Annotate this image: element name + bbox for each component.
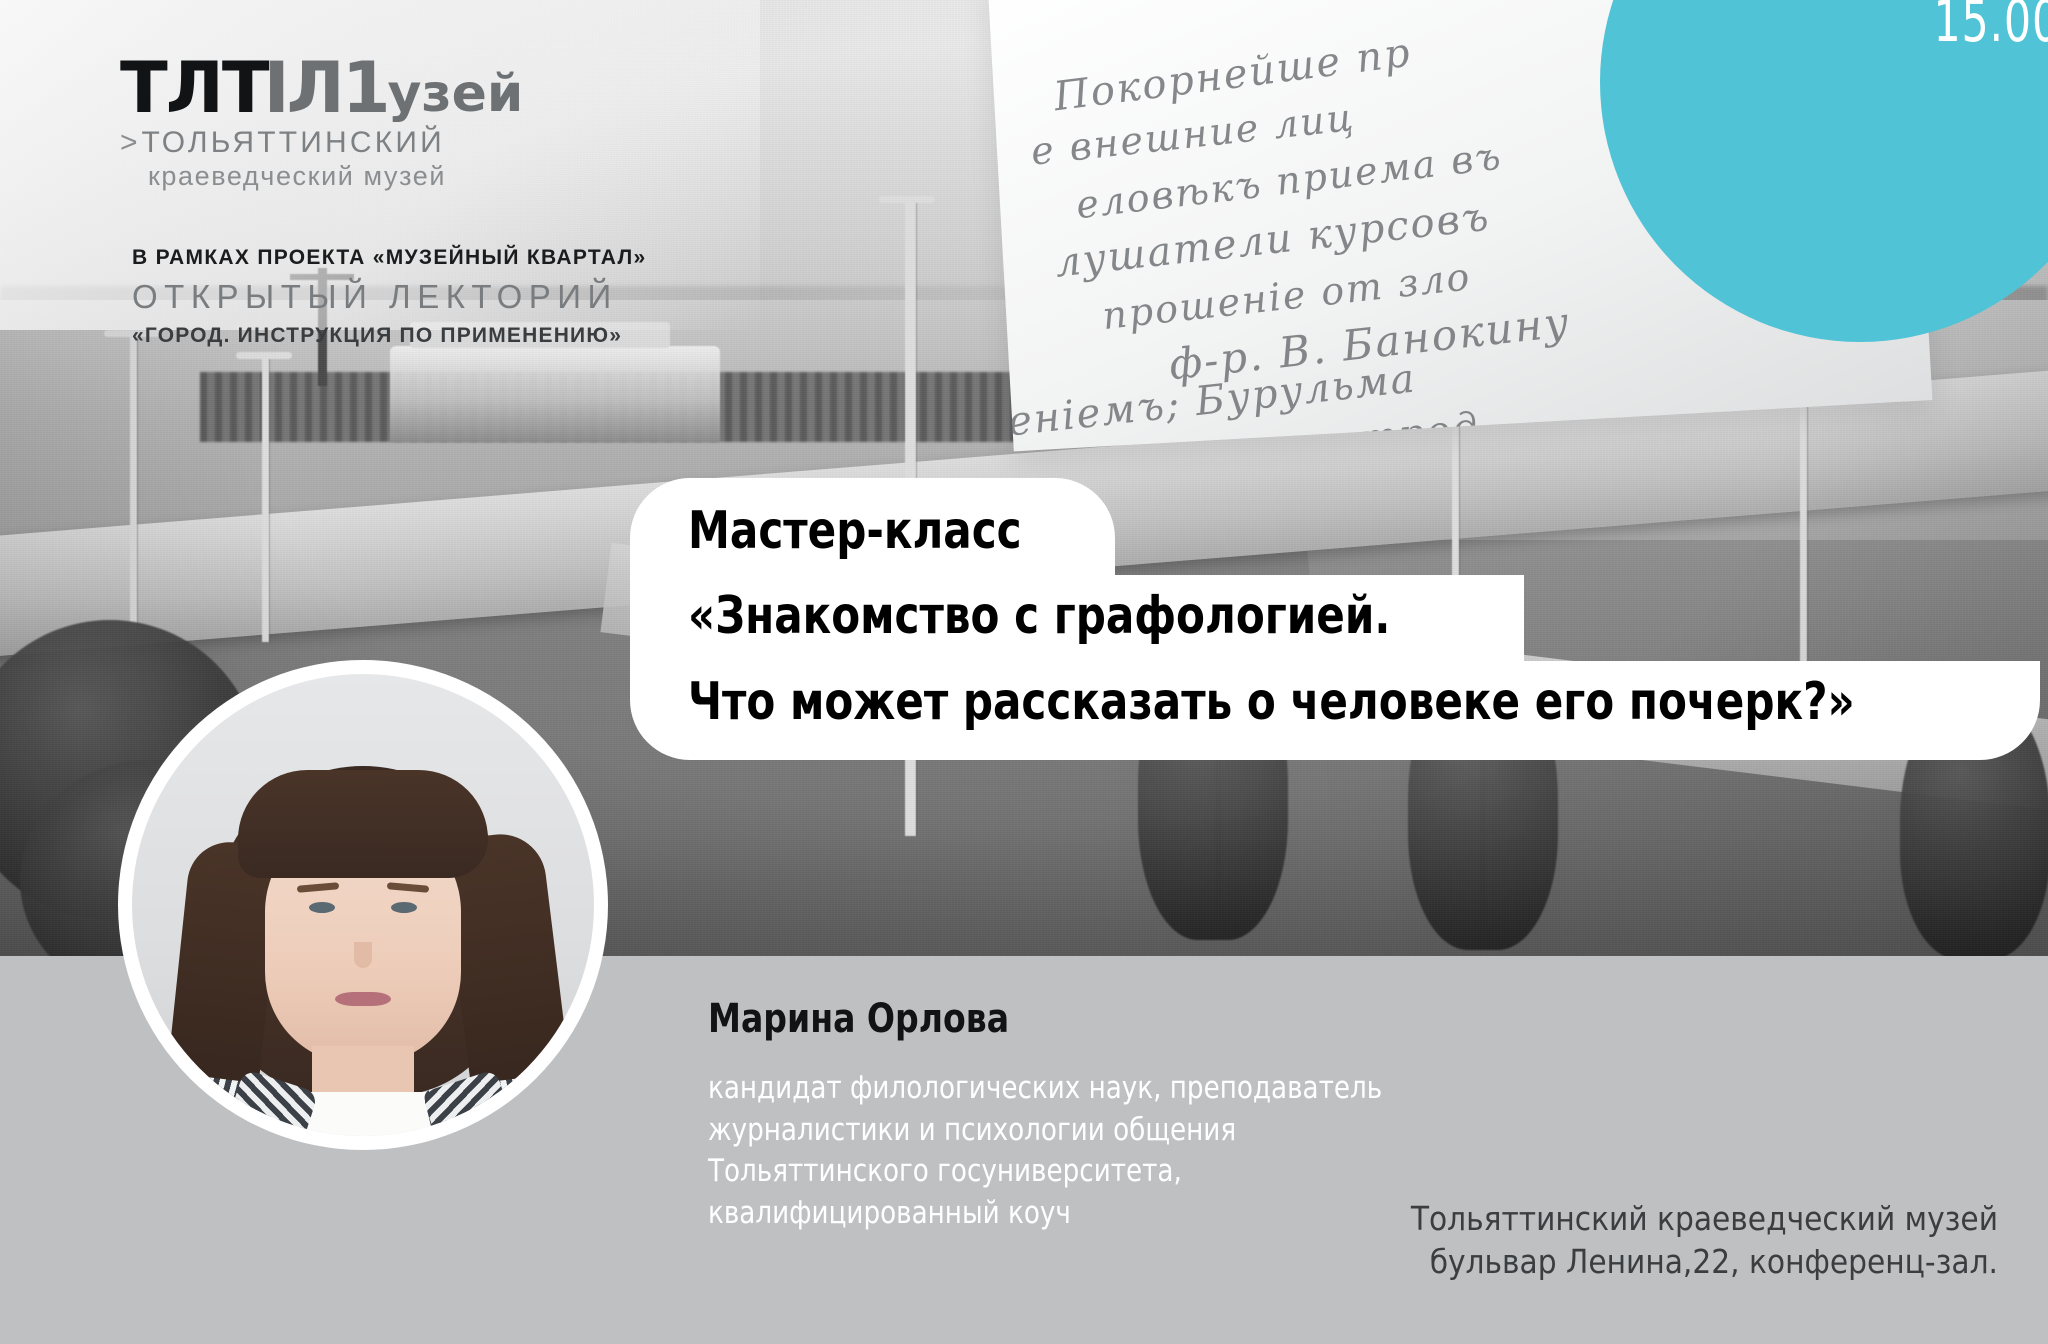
speaker-photo bbox=[132, 674, 594, 1136]
portrait-nose bbox=[354, 942, 372, 968]
logo-subtitle-text: краеведческий музей bbox=[148, 161, 740, 192]
title-bubble-line-1: Мастер-класс bbox=[630, 478, 1115, 575]
project-heading: В РАМКАХ ПРОЕКТА «МУЗЕЙНЫЙ КВАРТАЛ» ОТКР… bbox=[132, 246, 772, 348]
museum-logo: ТЛТ ІЛ1 узей > ТОЛЬЯТТИНСКИЙ краеведческ… bbox=[120, 58, 740, 192]
project-line-lectorium: ОТКРЫТЫЙ ЛЕКТОРИЙ bbox=[132, 278, 772, 316]
title-text-line-2: «Знакомство с графологией. bbox=[688, 585, 1390, 648]
portrait-mouth bbox=[335, 992, 391, 1006]
portrait-eye-left bbox=[309, 902, 335, 913]
date-badge-text: 14 ФЕВРАЛЯ 15.00 bbox=[1720, 0, 2048, 52]
project-line-subtitle: «ГОРОД. ИНСТРУКЦИЯ ПО ПРИМЕНЕНИЮ» bbox=[132, 324, 772, 348]
logo-city-text: ТОЛЬЯТТИНСКИЙ bbox=[142, 126, 445, 160]
title-text-line-1: Мастер-класс bbox=[688, 500, 1022, 563]
speaker-avatar bbox=[118, 660, 608, 1150]
logo-tat-text: ТЛТ bbox=[120, 58, 268, 120]
project-line-framework: В РАМКАХ ПРОЕКТА «МУЗЕЙНЫЙ КВАРТАЛ» bbox=[132, 246, 772, 270]
logo-wordmark: ТЛТ ІЛ1 узей bbox=[120, 58, 740, 120]
title-bubble-line-2: «Знакомство с графологией. bbox=[630, 575, 1524, 660]
portrait-eye-right bbox=[391, 902, 417, 913]
venue-line-2: бульвар Ленина,22, конференц-зал. bbox=[1411, 1241, 1998, 1284]
handwriting-line-1: Покорнейше пр bbox=[1051, 30, 1414, 121]
venue-address: Тольяттинский краеведческий музей бульва… bbox=[1411, 1198, 1998, 1284]
portrait-fringe bbox=[238, 770, 488, 878]
speaker-name: Марина Орлова bbox=[708, 996, 1628, 1042]
title-bubble-line-3: Что может рассказать о человеке его поче… bbox=[630, 661, 2040, 760]
venue-line-1: Тольяттинский краеведческий музей bbox=[1411, 1198, 1998, 1241]
poster-canvas: Покорнейше пр е внешние лиц еловѣкъ прие… bbox=[0, 0, 2048, 1344]
title-text-line-3: Что может рассказать о человеке его поче… bbox=[688, 671, 1855, 734]
date-badge-time: 15.00 bbox=[1781, 0, 2048, 52]
logo-city-row: > ТОЛЬЯТТИНСКИЙ bbox=[120, 126, 740, 160]
chevron-right-icon: > bbox=[120, 128, 138, 158]
speaker-bio-line-1: кандидат филологических наук, преподават… bbox=[708, 1068, 1648, 1110]
logo-uzey-text: узей bbox=[388, 72, 524, 118]
logo-m-mark: ІЛ1 bbox=[264, 58, 388, 120]
speaker-bio-line-2: журналистики и психологии общения bbox=[708, 1110, 1648, 1152]
speaker-bio-line-3: Тольяттинского госуниверситета, bbox=[708, 1151, 1648, 1193]
